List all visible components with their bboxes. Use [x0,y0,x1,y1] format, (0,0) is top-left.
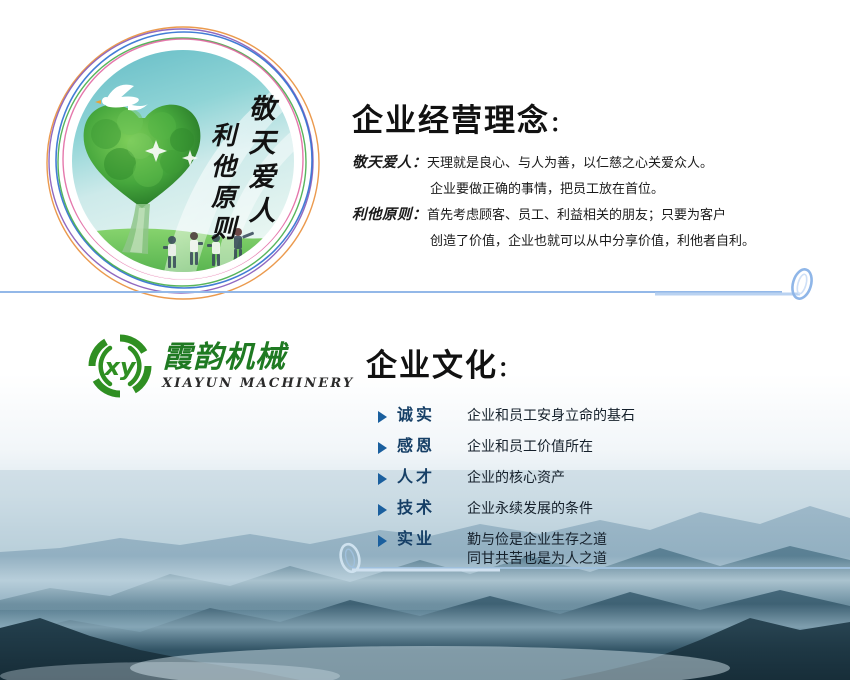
culture-item-desc: 企业的核心资产 [467,468,565,487]
xy-emblem-icon: xy [88,334,152,398]
culture-item-label: 实业 [397,530,459,549]
philosophy-line-text: 创造了价值，企业也就可以从中分享价值，利他者自利。 [430,233,755,248]
philosophy-line: 创造了价值，企业也就可以从中分享价值，利他者自利。 [352,228,832,254]
philosophy-line-lead: 敬天爱人 [352,154,412,171]
ribbon-divider-top [0,262,850,308]
philosophy-section-title: 企业经营理念： [352,95,571,140]
xy-emblem-text: xy [103,353,136,381]
culture-title-colon: ： [498,356,519,381]
triangle-bullet-icon [378,504,387,516]
culture-value-list: 诚实 企业和员工安身立命的基石 感恩 企业和员工价值所在 人才 企业的核心资产 … [378,406,635,568]
hero-calligraphy-right: 敬天爱人 [244,94,276,230]
culture-item-desc: 企业永续发展的条件 [467,499,593,518]
philosophy-line-text: 首先考虑顾客、员工、利益相关的朋友；只要为客户 [427,207,726,222]
philosophy-line-lead: 利他原则 [352,206,412,223]
philosophy-title-text: 企业经营理念 [352,103,550,139]
hero-calligraphy-left: 利他原则 [206,122,237,246]
triangle-bullet-icon [378,442,387,454]
culture-section-title: 企业文化： [366,340,519,385]
heart-tree-circle-image: 敬天爱人 利他原则 [44,22,322,300]
culture-item-label: 技术 [397,499,459,518]
culture-item-jishu: 技术 企业永续发展的条件 [378,499,635,518]
philosophy-line-text: 天理就是良心、与人为善，以仁慈之心关爱众人。 [427,155,713,170]
philosophy-line-colon: ： [412,206,427,223]
philosophy-line: 利他原则：首先考虑顾客、员工、利益相关的朋友；只要为客户 [352,202,832,228]
philosophy-title-colon: ： [550,111,571,136]
philosophy-line: 企业要做正确的事情，把员工放在首位。 [352,176,832,202]
culture-item-shiye: 实业 勤与俭是企业生存之道同甘共苦也是为人之道 [378,530,635,568]
poster-page: 敬天爱人 利他原则 企业经营理念： 敬天爱人：天理就是良心、与人为善，以仁慈之心… [0,0,850,680]
brand-wordmark: 霞韵机械 XIAYUN MACHINERY [162,341,355,391]
triangle-bullet-icon [378,411,387,423]
culture-item-ganen: 感恩 企业和员工价值所在 [378,437,635,456]
culture-item-chengshi: 诚实 企业和员工安身立命的基石 [378,406,635,425]
culture-title-text: 企业文化 [366,348,498,384]
triangle-bullet-icon [378,535,387,547]
brand-name-cn: 霞韵机械 [162,341,355,375]
philosophy-line-colon: ： [412,154,427,171]
culture-item-desc: 企业和员工安身立命的基石 [467,406,635,425]
philosophy-body: 敬天爱人：天理就是良心、与人为善，以仁慈之心关爱众人。 企业要做正确的事情，把员… [352,150,832,254]
company-logo: xy 霞韵机械 XIAYUN MACHINERY [88,334,355,398]
culture-item-label: 诚实 [397,406,459,425]
philosophy-line: 敬天爱人：天理就是良心、与人为善，以仁慈之心关爱众人。 [352,150,832,176]
philosophy-line-text: 企业要做正确的事情，把员工放在首位。 [430,181,664,196]
culture-item-desc: 企业和员工价值所在 [467,437,593,456]
culture-item-label: 人才 [397,468,459,487]
culture-item-rencai: 人才 企业的核心资产 [378,468,635,487]
triangle-bullet-icon [378,473,387,485]
culture-item-desc: 勤与俭是企业生存之道同甘共苦也是为人之道 [467,530,607,568]
brand-name-en: XIAYUN MACHINERY [162,376,355,391]
culture-item-label: 感恩 [397,437,459,456]
